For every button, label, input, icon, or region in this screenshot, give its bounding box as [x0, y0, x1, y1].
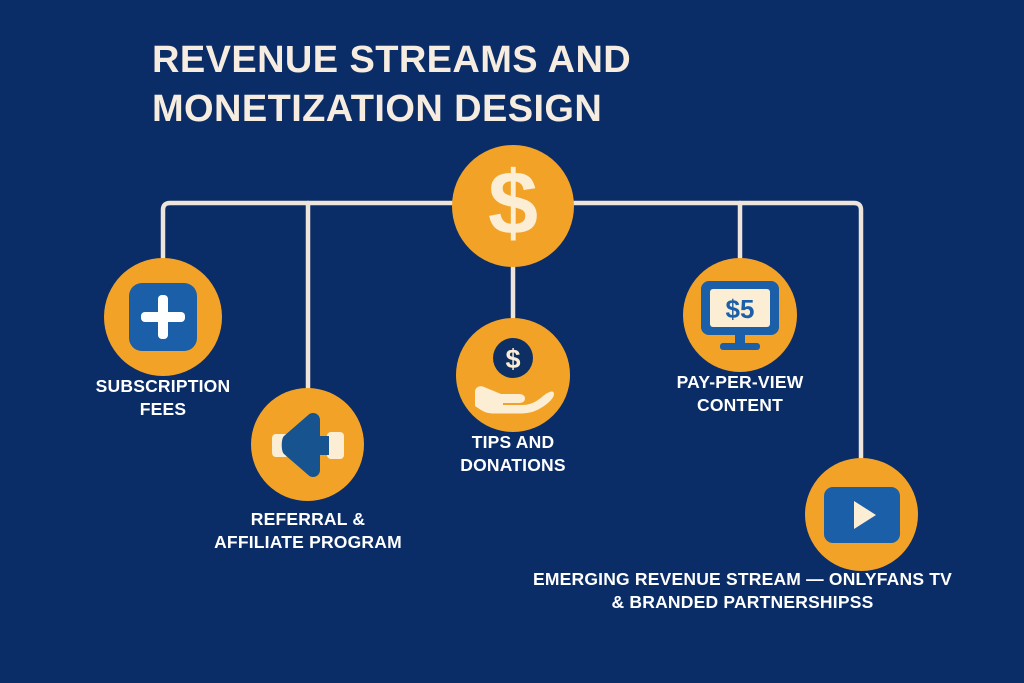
- plus-square-icon: [127, 281, 199, 353]
- referral-affiliate-label: Referral & Affiliate Program: [180, 508, 436, 554]
- hub-bubble[interactable]: $: [452, 145, 574, 267]
- pay-per-view-bubble[interactable]: $5: [683, 258, 797, 372]
- subscription-fees-bubble[interactable]: [104, 258, 222, 376]
- page-title: Revenue Streams and Monetization Design: [152, 36, 772, 133]
- hand-holding-coin-icon: $: [470, 336, 556, 414]
- svg-text:$: $: [505, 344, 520, 374]
- svg-text:$5: $5: [726, 294, 755, 324]
- video-play-icon: [822, 485, 902, 545]
- monitor-price-icon: $5: [698, 278, 782, 352]
- referral-affiliate-bubble[interactable]: [251, 388, 364, 501]
- pay-per-view-label: Pay-Per-View Content: [626, 371, 854, 417]
- svg-text:$: $: [488, 160, 538, 252]
- emerging-revenue-bubble[interactable]: [805, 458, 918, 571]
- emerging-revenue-label: Emerging Revenue Stream — OnlyFans TV & …: [470, 568, 1015, 614]
- share-network-icon: [271, 410, 345, 480]
- infographic-canvas: Revenue Streams and Monetization Design …: [0, 0, 1024, 683]
- dollar-sign-icon: $: [477, 160, 549, 252]
- tips-donations-bubble[interactable]: $: [456, 318, 570, 432]
- subscription-fees-label: Subscription Fees: [47, 375, 279, 421]
- connector-subscription: [163, 203, 500, 285]
- tips-donations-label: Tips and Donations: [400, 431, 626, 477]
